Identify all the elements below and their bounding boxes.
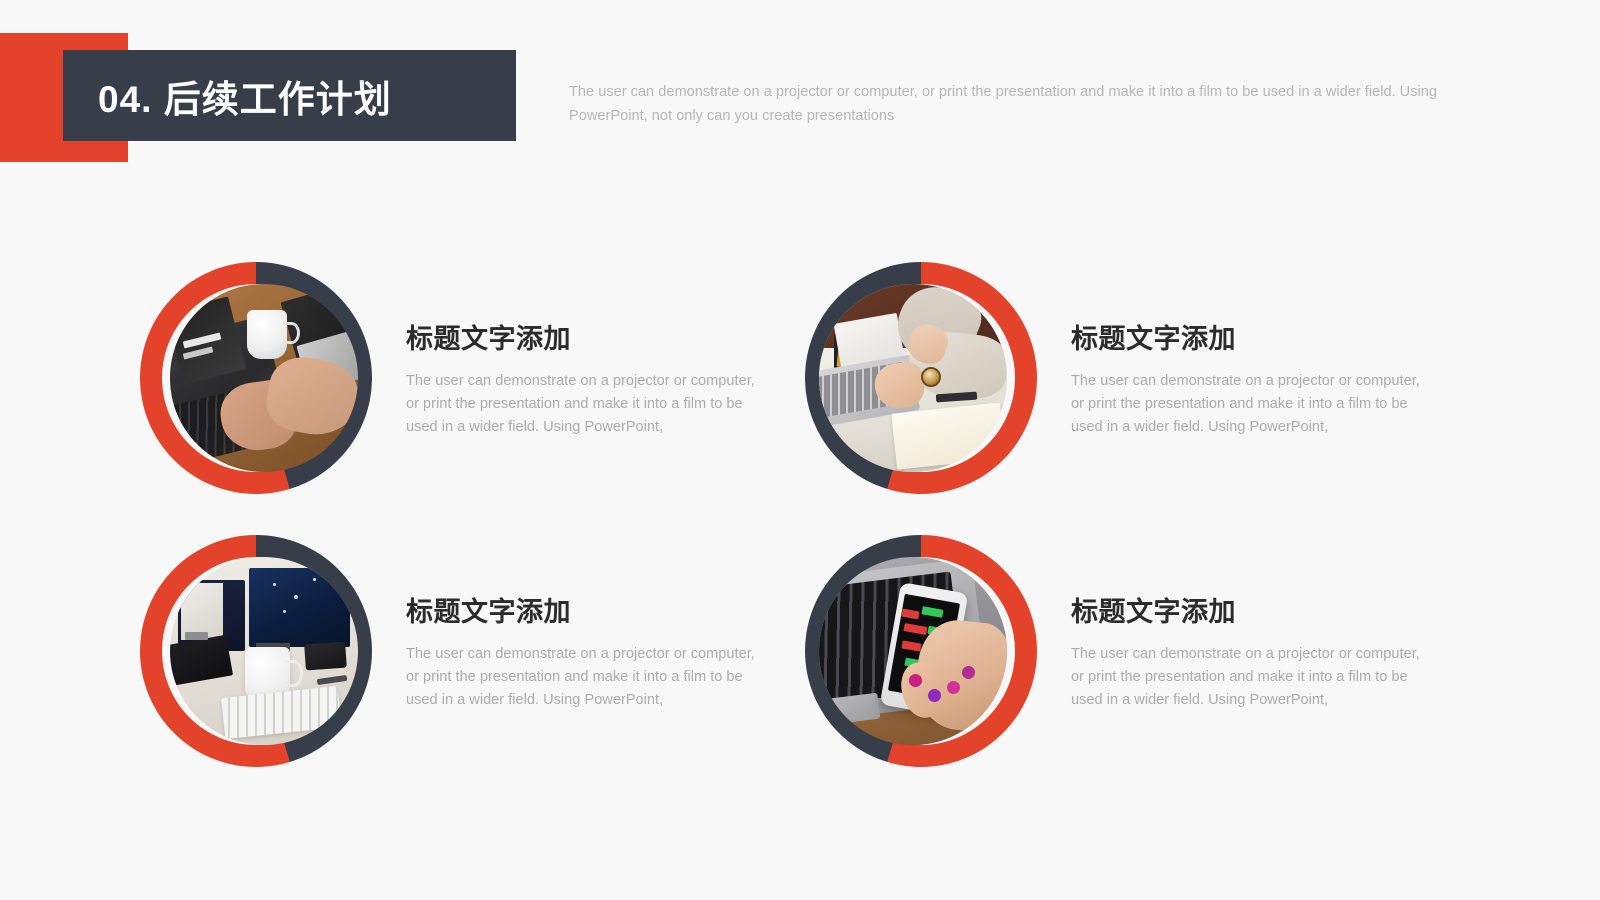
photo-desk-monitors-keyboard [170, 557, 358, 745]
feature-text-3: 标题文字添加 The user can demonstrate on a pro… [406, 590, 758, 712]
feature-title-3: 标题文字添加 [406, 590, 758, 629]
circle-image-2[interactable] [805, 262, 1037, 494]
photo-hands-typing-laptop [170, 284, 358, 472]
circle-image-4[interactable] [805, 535, 1037, 767]
feature-item-4[interactable]: 标题文字添加 The user can demonstrate on a pro… [805, 511, 1505, 791]
feature-item-3[interactable]: 标题文字添加 The user can demonstrate on a pro… [140, 511, 840, 791]
feature-body-2: The user can demonstrate on a projector … [1071, 370, 1423, 439]
photo-two-people-laptop [819, 284, 1007, 472]
feature-title-1: 标题文字添加 [406, 317, 758, 356]
feature-body-1: The user can demonstrate on a projector … [406, 370, 758, 439]
header-description: The user can demonstrate on a projector … [569, 80, 1479, 128]
feature-text-2: 标题文字添加 The user can demonstrate on a pro… [1071, 317, 1423, 439]
feature-title-4: 标题文字添加 [1071, 590, 1423, 629]
slide-header: 04. 后续工作计划 The user can demonstrate on a… [0, 0, 1600, 200]
feature-text-4: 标题文字添加 The user can demonstrate on a pro… [1071, 590, 1423, 712]
feature-grid: 标题文字添加 The user can demonstrate on a pro… [0, 200, 1600, 820]
circle-image-3[interactable] [140, 535, 372, 767]
feature-item-2[interactable]: 标题文字添加 The user can demonstrate on a pro… [805, 238, 1505, 518]
feature-title-2: 标题文字添加 [1071, 317, 1423, 356]
feature-body-4: The user can demonstrate on a projector … [1071, 643, 1423, 712]
feature-item-1[interactable]: 标题文字添加 The user can demonstrate on a pro… [140, 238, 840, 518]
feature-text-1: 标题文字添加 The user can demonstrate on a pro… [406, 317, 758, 439]
feature-body-3: The user can demonstrate on a projector … [406, 643, 758, 712]
circle-image-1[interactable] [140, 262, 372, 494]
page-title: 04. 后续工作计划 [63, 50, 516, 141]
photo-hand-phone-keyboard [819, 557, 1007, 745]
